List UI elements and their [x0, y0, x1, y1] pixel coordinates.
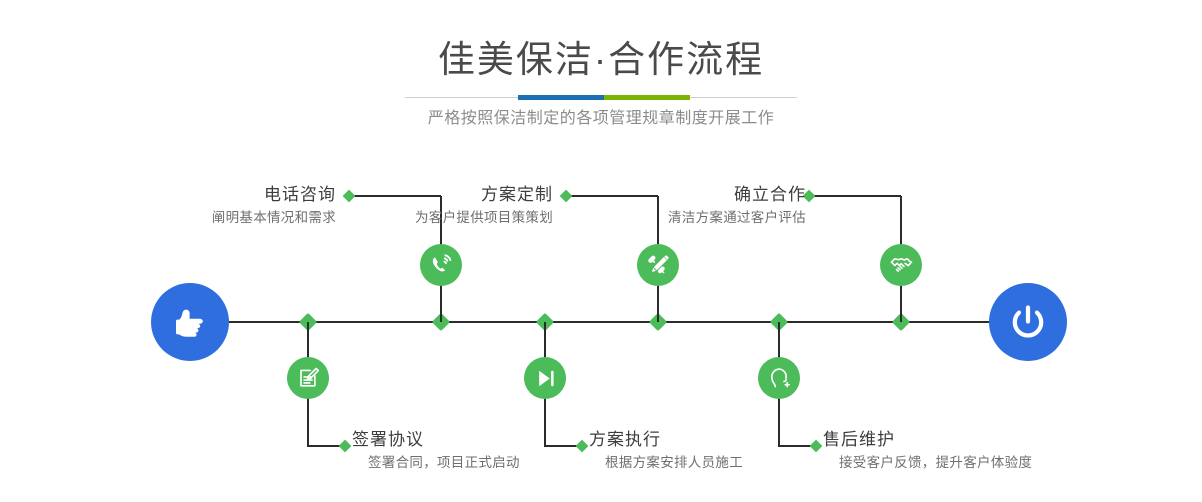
page-title: 佳美保洁·合作流程 [0, 38, 1202, 82]
pointing-hand-icon [168, 300, 212, 344]
step-icon-plan-design[interactable] [637, 244, 679, 286]
divider-segment-blue [518, 95, 604, 100]
process-flow-infographic: 佳美保洁·合作流程 严格按照保洁制定的各项管理规章制度开展工作 [0, 0, 1202, 502]
step-icon-sign-agreement[interactable] [287, 357, 329, 399]
connector-horizontal [808, 195, 901, 197]
document-pen-icon [296, 366, 321, 391]
step-icon-after-sales[interactable] [758, 357, 800, 399]
power-icon [1005, 299, 1051, 345]
divider-segment-green [604, 95, 690, 100]
step-icon-plan-execution[interactable] [524, 357, 566, 399]
step-label-establish-cooperation: 确立合作 清洁方案通过客户评估 [470, 183, 806, 229]
title-divider [405, 95, 797, 100]
page-subtitle: 严格按照保洁制定的各项管理规章制度开展工作 [0, 107, 1202, 131]
pencil-ruler-icon [646, 253, 671, 278]
headset-support-icon [767, 366, 792, 391]
step-title: 售后维护 [823, 428, 1193, 452]
step-label-after-sales: 售后维护 接受客户反馈，提升客户体验度 [823, 428, 1193, 474]
connector-tip [339, 440, 352, 453]
step-title: 确立合作 [470, 183, 806, 207]
flow-start-node[interactable] [151, 283, 229, 361]
step-icon-establish-cooperation[interactable] [880, 244, 922, 286]
phone-call-icon [429, 253, 454, 278]
step-desc: 清洁方案通过客户评估 [470, 207, 806, 229]
flow-end-node[interactable] [989, 283, 1067, 361]
step-desc: 接受客户反馈，提升客户体验度 [823, 452, 1193, 474]
step-icon-phone-consult[interactable] [420, 244, 462, 286]
handshake-icon [889, 253, 914, 278]
play-next-icon [533, 366, 558, 391]
